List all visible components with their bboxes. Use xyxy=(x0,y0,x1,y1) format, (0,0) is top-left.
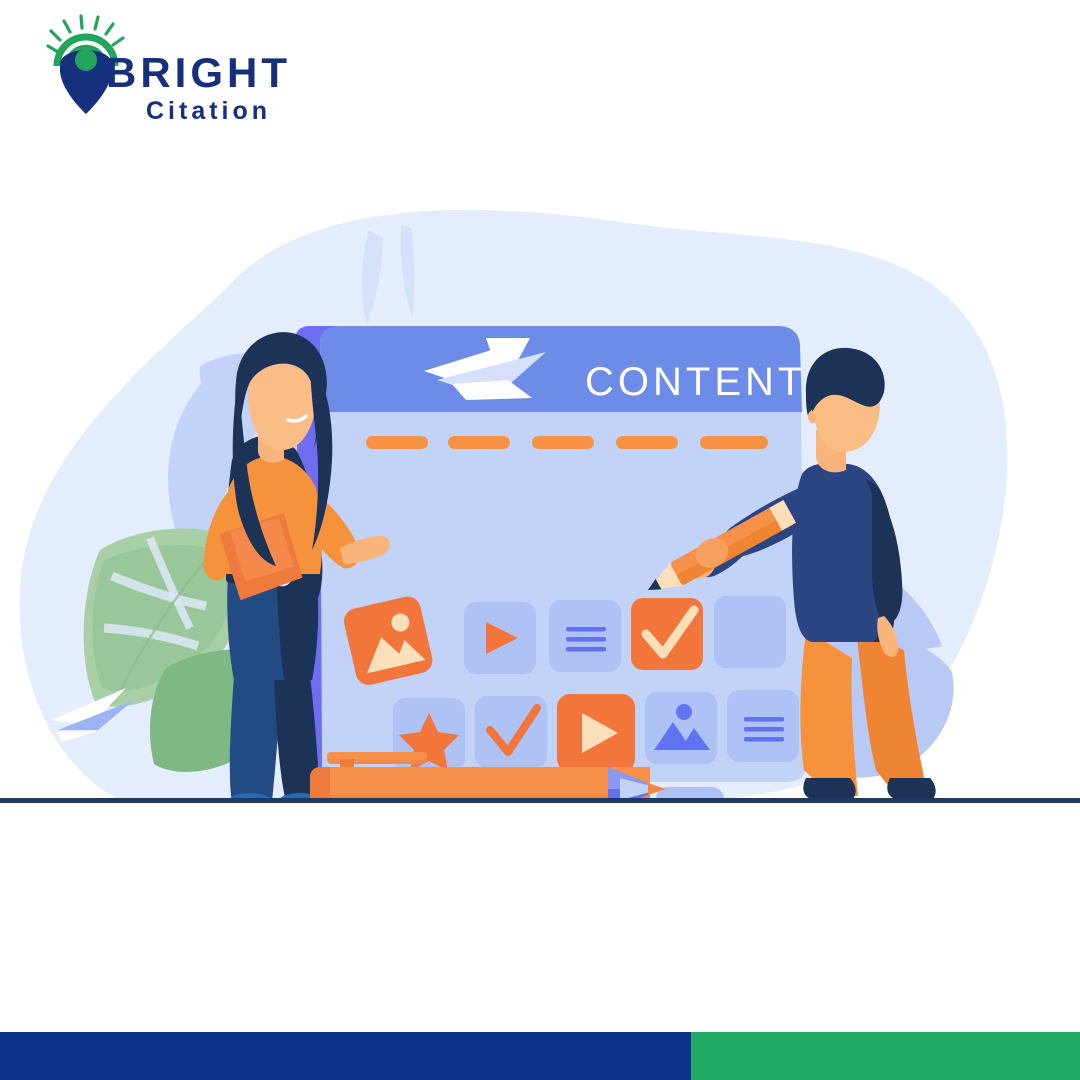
tile-text-lines-icon[interactable] xyxy=(549,600,621,672)
brand-name-secondary: Citation xyxy=(146,99,291,124)
brand-logo[interactable]: BRIGHT Citation xyxy=(40,12,340,120)
tile-image-icon[interactable] xyxy=(645,692,717,764)
tile-play-active-icon[interactable] xyxy=(557,694,635,772)
tile-text-lines-icon[interactable] xyxy=(727,690,799,762)
tile-row-2[interactable] xyxy=(393,690,799,772)
tile-check-icon[interactable] xyxy=(475,696,547,768)
tile-play-icon[interactable] xyxy=(464,602,536,674)
section-divider xyxy=(0,798,1080,803)
board-header-label: CONTENT xyxy=(585,360,806,404)
tile-blank-icon[interactable] xyxy=(714,596,786,668)
hero-illustration: CONTENT xyxy=(0,130,1080,802)
page-canvas: BRIGHT Citation xyxy=(0,0,1080,1080)
tile-check-active-icon[interactable] xyxy=(631,598,703,670)
footer-color-bar xyxy=(0,1032,1080,1080)
footer-bar-green xyxy=(691,1032,1080,1080)
brand-wordmark: BRIGHT Citation xyxy=(106,52,291,124)
brand-name-primary: BRIGHT xyxy=(106,52,291,94)
footer-bar-blue xyxy=(0,1032,691,1080)
